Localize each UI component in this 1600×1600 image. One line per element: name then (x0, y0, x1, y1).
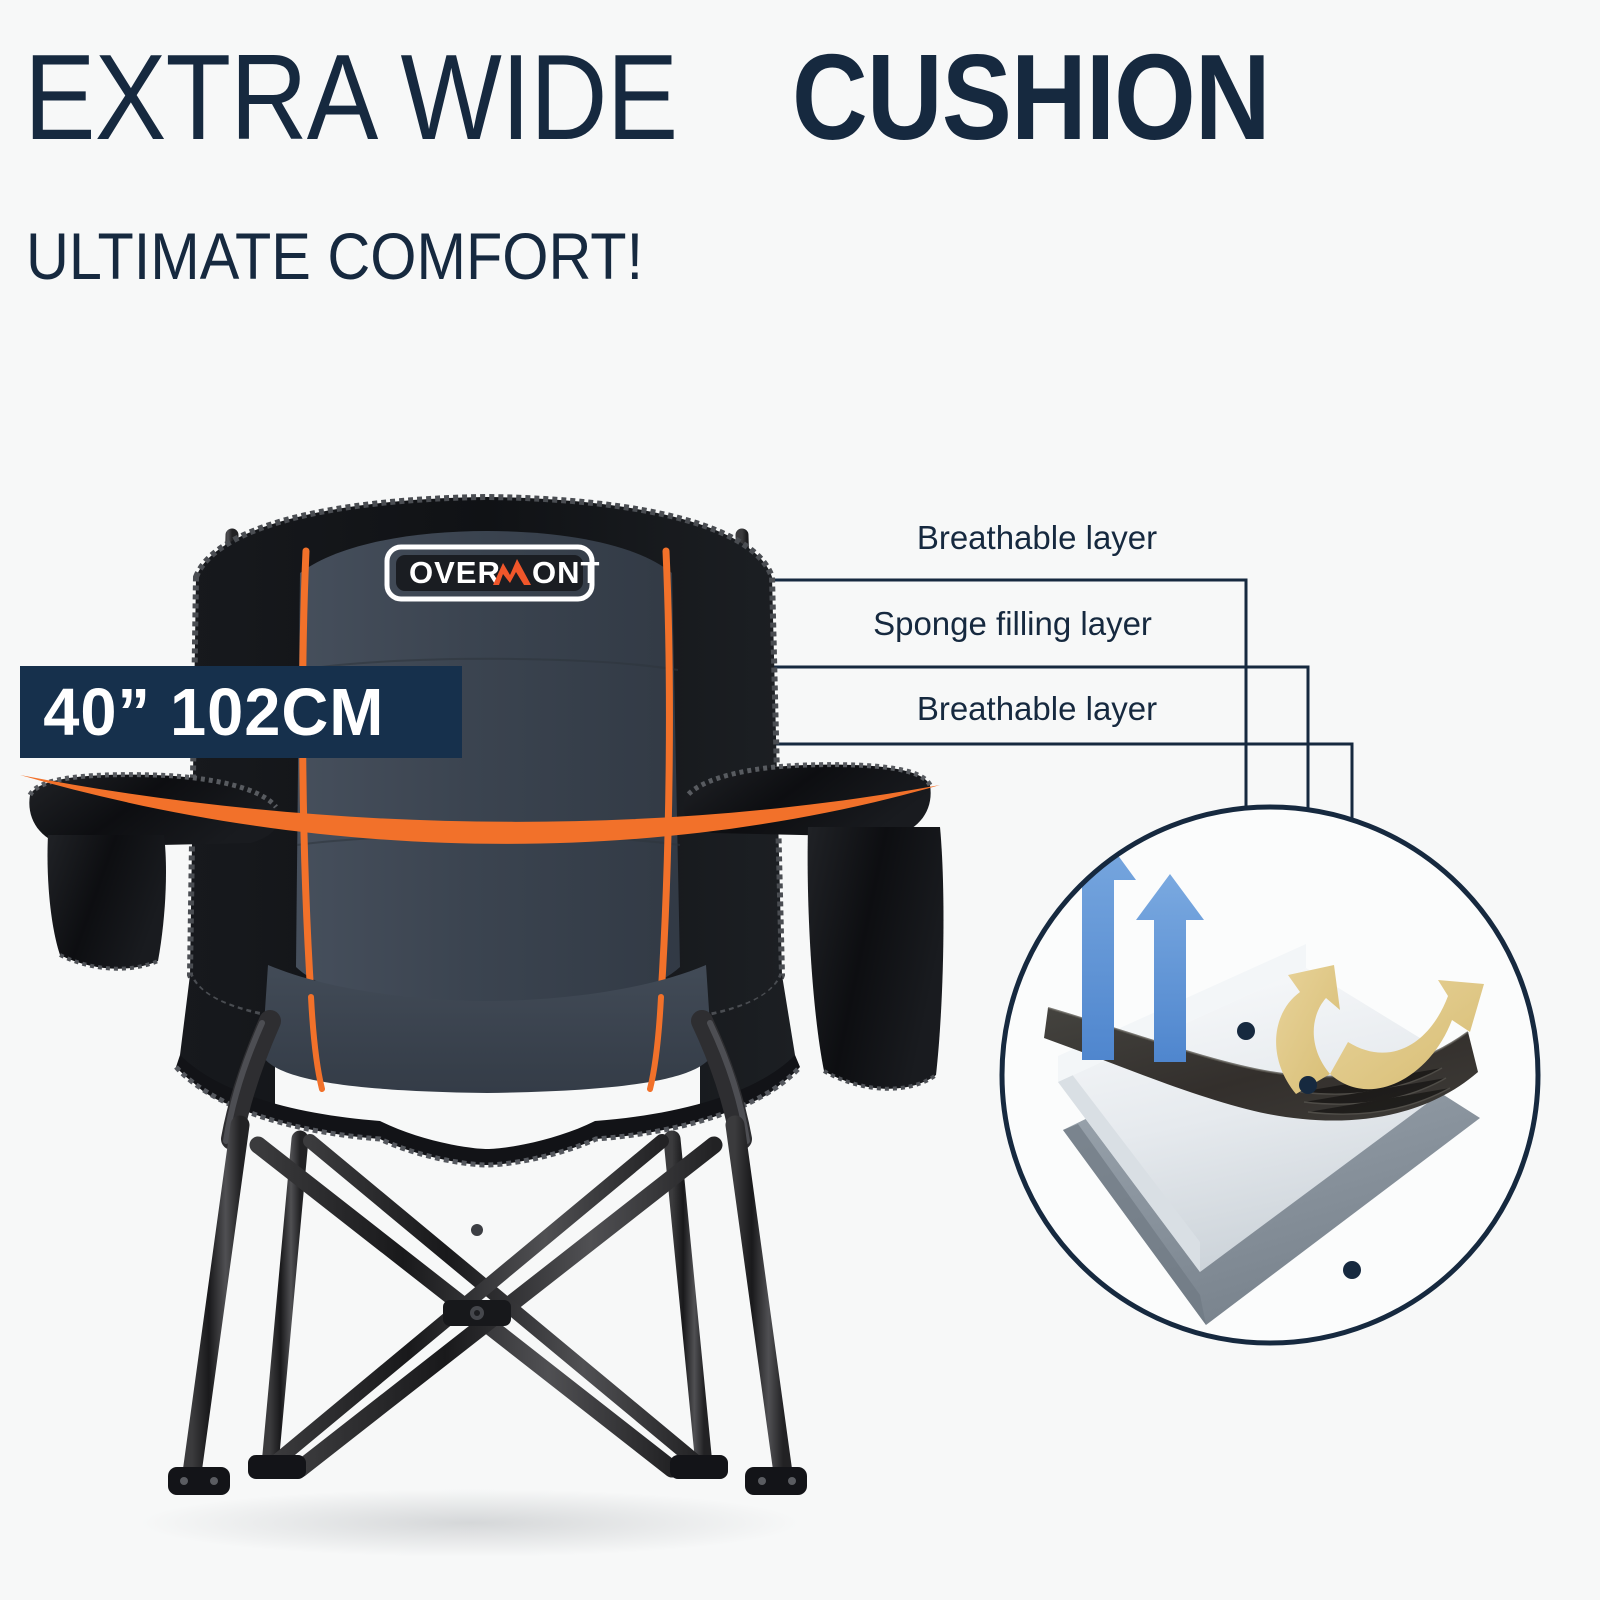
cushion-cutaway-illustration (0, 0, 1600, 1600)
dimension-badge: 40” 102CM (20, 666, 462, 758)
dimension-badge-value: 40” 102CM (20, 674, 384, 751)
callout-dot-target-3 (1343, 1261, 1361, 1279)
callout-dot-target-2 (1299, 1076, 1317, 1094)
infographic-canvas: EXTRA WIDE CUSHION ULTIMATE COMFORT! Bre… (0, 0, 1600, 1600)
callout-dot-target-1 (1237, 1022, 1255, 1040)
